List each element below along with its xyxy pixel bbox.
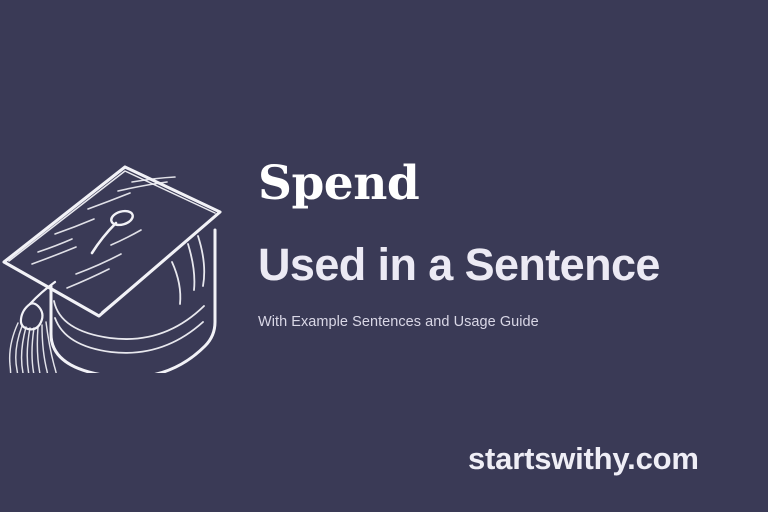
graduation-cap-icon xyxy=(0,138,232,373)
poster-canvas: Spend Used in a Sentence With Example Se… xyxy=(0,0,768,512)
subtitle: With Example Sentences and Usage Guide xyxy=(258,315,758,330)
cap-band-inner-contours xyxy=(54,236,204,353)
text-block: Spend Used in a Sentence With Example Se… xyxy=(258,160,758,330)
brand-watermark: startswithy.com xyxy=(468,443,699,474)
tassel-head xyxy=(21,303,43,329)
mortarboard-inner-stroke xyxy=(9,171,216,312)
mortarboard-hatching xyxy=(32,177,175,288)
page-title: Used in a Sentence xyxy=(258,242,758,287)
cap-button-cord xyxy=(92,223,116,253)
mortarboard-outline xyxy=(4,167,220,316)
headword: Spend xyxy=(258,160,758,212)
